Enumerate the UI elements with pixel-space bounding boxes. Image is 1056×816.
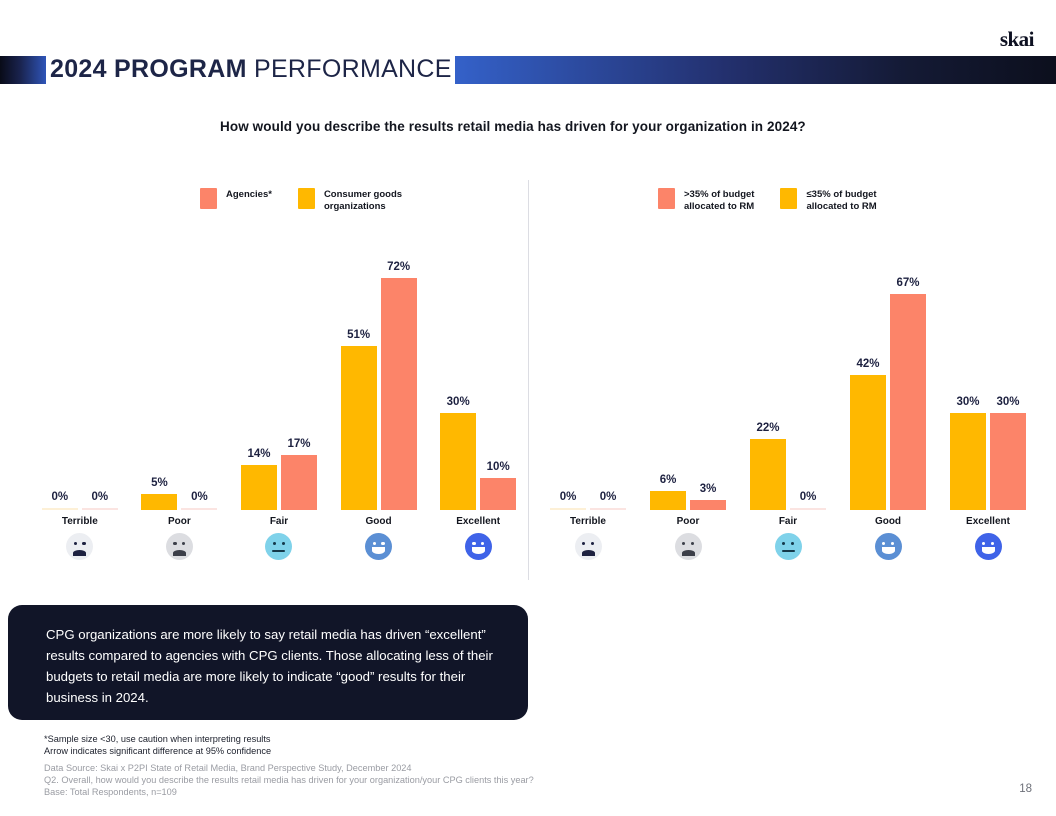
bar-wrapper: 0% [82,230,118,510]
bar[interactable] [82,508,118,510]
face-mouth-frown [73,550,86,556]
bar-wrapper: 0% [181,230,217,510]
axis-tick-label: Fair [779,516,797,527]
face-eye [182,542,185,545]
axis-tick-label: Terrible [570,516,606,527]
face-eye [791,542,794,545]
face-mouth-frown [582,550,595,556]
bar-wrapper: 5% [141,230,177,510]
face-eye [682,542,685,545]
bar-groups: 0%0%5%0%14%17%51%72%30%10% [30,230,528,510]
bar[interactable] [790,508,826,510]
bar[interactable] [650,491,686,510]
skai-logo: skai [1000,27,1034,52]
axis-group-poor: Poor [130,516,230,560]
bar-wrapper: 10% [480,230,516,510]
bar-wrapper: 67% [890,230,926,510]
face-eye [74,542,77,545]
bar[interactable] [750,439,786,510]
bar-value-label: 17% [287,438,310,450]
footnote-sources: Data Source: Skai x P2PI State of Retail… [44,762,534,799]
bar-wrapper: 0% [550,230,586,510]
bar-wrapper: 51% [341,230,377,510]
x-axis-left: TerriblePoorFairGoodExcellent [30,516,528,580]
face-mouth-smile [472,547,485,554]
bar-group-excellent: 30%10% [428,230,528,510]
axis-group-good: Good [838,516,938,560]
bar[interactable] [341,346,377,510]
bar-wrapper: 72% [381,230,417,510]
chart-legend-left: Agencies* Consumer goods organizations [200,188,428,213]
legend-item[interactable]: ≤35% of budget allocated to RM [780,188,876,213]
bar-group-good: 42%67% [838,230,938,510]
bar[interactable] [281,455,317,510]
face-mouth-frown [173,550,186,556]
bar[interactable] [381,278,417,510]
bar-value-label: 6% [660,474,677,486]
face-eye [582,542,585,545]
footnote-question: Q2. Overall, how would you describe the … [44,774,534,786]
good-face-icon [365,533,392,560]
bar-wrapper: 0% [42,230,78,510]
terrible-face-icon [575,533,602,560]
header-band-left [0,56,46,84]
fair-face-icon [265,533,292,560]
bar[interactable] [890,294,926,510]
axis-group-terrible: Terrible [538,516,638,560]
bar-value-label: 0% [91,491,108,503]
bar-value-label: 51% [347,329,370,341]
charts-divider [528,180,529,580]
bar-wrapper: 17% [281,230,317,510]
legend-label: Consumer goods organizations [324,188,402,213]
axis-group-fair: Fair [738,516,838,560]
axis-tick-label: Poor [677,516,700,527]
legend-label: Agencies* [226,188,272,201]
face-mouth-smile [982,547,995,554]
face-eye [273,542,276,545]
bar[interactable] [550,508,586,510]
bar-value-label: 67% [896,277,919,289]
bar[interactable] [241,465,277,510]
face-eye [691,542,694,545]
bar[interactable] [950,413,986,510]
face-eye [472,542,475,545]
face-mouth-flat [272,550,285,552]
bar[interactable] [440,413,476,510]
bar-value-label: 42% [856,358,879,370]
fair-face-icon [775,533,802,560]
excellent-face-icon [465,533,492,560]
bar-wrapper: 3% [690,230,726,510]
bar-value-label: 72% [387,261,410,273]
bar[interactable] [690,500,726,510]
face-eye [782,542,785,545]
bar-group-poor: 6%3% [638,230,738,510]
bar[interactable] [850,375,886,510]
footnote-significance: Arrow indicates significant difference a… [44,746,271,758]
legend-item[interactable]: Agencies* [200,188,272,209]
face-mouth-frown [682,550,695,556]
bar-wrapper: 0% [590,230,626,510]
bar-value-label: 5% [151,477,168,489]
poor-face-icon [166,533,193,560]
axis-group-good: Good [329,516,429,560]
bar-value-label: 30% [447,396,470,408]
axis-tick-label: Fair [270,516,288,527]
bar[interactable] [590,508,626,510]
insight-callout: CPG organizations are more likely to say… [8,605,528,720]
bar-group-good: 51%72% [329,230,429,510]
face-eye [982,542,985,545]
bar[interactable] [42,508,78,510]
bar-value-label: 22% [756,422,779,434]
axis-group-excellent: Excellent [428,516,528,560]
bar-value-label: 14% [247,448,270,460]
bar[interactable] [480,478,516,510]
slide: skai 2024 PROGRAM PERFORMANCE How would … [0,0,1056,816]
legend-swatch-yellow [298,188,315,209]
face-eye [173,542,176,545]
plot-area-left: 0%0%5%0%14%17%51%72%30%10% [30,230,528,510]
bar-value-label: 0% [600,491,617,503]
bar-group-terrible: 0%0% [30,230,130,510]
bar-wrapper: 14% [241,230,277,510]
page-title-bold: 2024 PROGRAM [50,55,247,83]
chart-legend-right: >35% of budget allocated to RM ≤35% of b… [658,188,903,213]
survey-question: How would you describe the results retai… [220,119,806,134]
plot-area-right: 0%0%6%3%22%0%42%67%30%30% [538,230,1038,510]
bar-wrapper: 30% [950,230,986,510]
bar-value-label: 0% [51,491,68,503]
axis-group-fair: Fair [229,516,329,560]
footnote-notes: *Sample size <30, use caution when inter… [44,734,271,757]
good-face-icon [875,533,902,560]
bar-value-label: 30% [996,396,1019,408]
face-eye [882,542,885,545]
chart-by-organization-type: Agencies* Consumer goods organizations 0… [30,170,528,580]
bar-wrapper: 30% [990,230,1026,510]
bar-value-label: 10% [487,461,510,473]
face-eye [82,542,85,545]
excellent-face-icon [975,533,1002,560]
bar[interactable] [990,413,1026,510]
bar-group-terrible: 0%0% [538,230,638,510]
page-title: 2024 PROGRAM PERFORMANCE [50,55,452,84]
legend-label: >35% of budget allocated to RM [684,188,754,213]
page-number: 18 [1019,783,1032,795]
axis-tick-label: Excellent [456,516,500,527]
face-eye [891,542,894,545]
face-eye [991,542,994,545]
bar-group-poor: 5%0% [130,230,230,510]
bar-wrapper: 0% [790,230,826,510]
axis-groups: TerriblePoorFairGoodExcellent [30,516,528,560]
footnote-sample-size: *Sample size <30, use caution when inter… [44,734,271,746]
chart-by-budget-allocation: >35% of budget allocated to RM ≤35% of b… [538,170,1038,580]
bar-value-label: 0% [800,491,817,503]
bar-groups: 0%0%6%3%22%0%42%67%30%30% [538,230,1038,510]
axis-tick-label: Good [366,516,392,527]
legend-swatch-coral [658,188,675,209]
bar-wrapper: 22% [750,230,786,510]
axis-tick-label: Excellent [966,516,1010,527]
footnote-base: Base: Total Respondents, n=109 [44,786,534,798]
legend-item[interactable]: Consumer goods organizations [298,188,402,213]
bar-wrapper: 30% [440,230,476,510]
footnote-data-source: Data Source: Skai x P2PI State of Retail… [44,762,534,774]
axis-tick-label: Poor [168,516,191,527]
axis-group-terrible: Terrible [30,516,130,560]
terrible-face-icon [66,533,93,560]
bar-value-label: 0% [191,491,208,503]
face-eye [381,542,384,545]
axis-tick-label: Good [875,516,901,527]
legend-label: ≤35% of budget allocated to RM [806,188,876,213]
face-eye [373,542,376,545]
header-band-right [455,56,1056,84]
legend-item[interactable]: >35% of budget allocated to RM [658,188,754,213]
bar-value-label: 30% [956,396,979,408]
legend-swatch-coral [200,188,217,209]
poor-face-icon [675,533,702,560]
face-mouth-smile [882,547,895,554]
x-axis-right: TerriblePoorFairGoodExcellent [538,516,1038,580]
bar[interactable] [181,508,217,510]
axis-tick-label: Terrible [62,516,98,527]
axis-groups: TerriblePoorFairGoodExcellent [538,516,1038,560]
bar[interactable] [141,494,177,510]
legend-swatch-yellow [780,188,797,209]
axis-group-poor: Poor [638,516,738,560]
face-mouth-flat [782,550,795,552]
page-title-light: PERFORMANCE [254,55,452,83]
bar-wrapper: 6% [650,230,686,510]
bar-value-label: 0% [560,491,577,503]
face-eye [591,542,594,545]
face-mouth-smile [372,547,385,554]
bar-wrapper: 42% [850,230,886,510]
axis-group-excellent: Excellent [938,516,1038,560]
bar-group-fair: 14%17% [229,230,329,510]
face-eye [481,542,484,545]
insight-callout-text: CPG organizations are more likely to say… [46,624,502,708]
bar-value-label: 3% [700,483,717,495]
face-eye [282,542,285,545]
bar-group-fair: 22%0% [738,230,838,510]
bar-group-excellent: 30%30% [938,230,1038,510]
